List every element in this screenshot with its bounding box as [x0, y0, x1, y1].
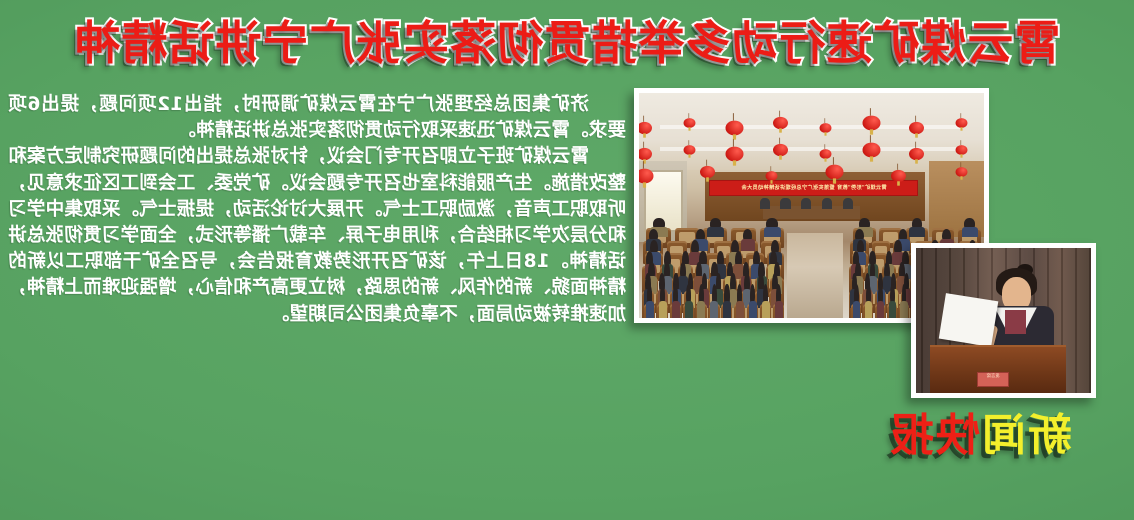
red-lantern	[891, 169, 906, 181]
audience-torso	[962, 227, 978, 237]
red-lantern	[639, 148, 652, 160]
speaker-document-paper	[939, 293, 998, 347]
red-lantern	[639, 122, 652, 134]
audience-torso	[853, 301, 860, 318]
audience-torso	[685, 301, 693, 318]
poster-title-bar: 霄云煤矿速行动多举措贯彻落实张广宁讲话精神	[0, 6, 1134, 74]
red-lantern	[909, 148, 924, 160]
red-lantern	[773, 116, 788, 128]
audience-torso	[775, 301, 783, 318]
audience-torso	[909, 227, 925, 237]
head-table-person	[843, 198, 853, 209]
article-body: 济矿集团总经理张广宁在霄云煤矿调研时，指出12项问题，提出6项要求。霄云煤矿迅速…	[8, 92, 626, 328]
audience-torso	[659, 301, 667, 318]
hall-red-banner: 霄云煤矿"形势"教育 暨落实张广宁总经理讲话精神动员大会	[709, 180, 918, 197]
audience-torso	[723, 301, 731, 318]
audience-torso	[741, 239, 756, 251]
podium-nameplate: 发言席	[977, 372, 1009, 386]
audience-torso	[749, 301, 757, 318]
speaker-podium-photo: 发言席	[911, 243, 1096, 398]
speaker-photo-frame: 发言席	[916, 248, 1091, 393]
audience-torso	[698, 301, 706, 318]
red-lantern	[773, 143, 788, 155]
hall-center-aisle	[787, 233, 842, 319]
hall-ceiling	[639, 93, 984, 170]
article-paragraph: 济矿集团总经理张广宁在霄云煤矿调研时，指出12项问题，提出6项要求。霄云煤矿迅速…	[8, 92, 626, 144]
red-lantern	[862, 115, 880, 130]
red-lantern	[639, 168, 653, 183]
red-lantern	[765, 171, 777, 181]
audience-torso	[672, 301, 680, 318]
head-table-person	[780, 198, 790, 209]
news-flash-badge-red-text: 快报	[888, 410, 980, 461]
speaker-scarf	[1005, 310, 1026, 333]
audience-torso	[900, 301, 907, 318]
audience-torso	[736, 301, 744, 318]
news-flash-badge-yellow-text: 新闻	[980, 410, 1072, 461]
red-lantern	[909, 122, 924, 134]
red-lantern	[956, 118, 968, 128]
audience-torso	[762, 301, 770, 318]
speaker-scene: 发言席	[916, 248, 1091, 393]
speaker-podium: 发言席	[930, 345, 1067, 393]
podium-nameplate-text: 发言席	[978, 373, 1008, 380]
red-lantern	[684, 145, 696, 155]
audience-torso	[707, 227, 725, 237]
article-paragraph: 霄云煤矿班子立即召开专门会议，针对张总提出的问题研究制定方案和整改措施。生产服能…	[8, 144, 626, 327]
head-table-person	[822, 198, 832, 209]
red-lantern	[956, 145, 968, 155]
red-lantern	[820, 123, 832, 133]
red-lantern	[684, 118, 696, 128]
page-title: 霄云煤矿速行动多举措贯彻落实张广宁讲话精神	[74, 7, 1061, 73]
red-lantern	[862, 142, 880, 157]
audience-torso	[877, 301, 884, 318]
head-table-person	[760, 198, 770, 209]
audience-torso	[710, 301, 718, 318]
audience-torso	[646, 301, 654, 318]
audience-torso	[764, 227, 782, 237]
poster-page: 霄云煤矿速行动多举措贯彻落实张广宁讲话精神 霄云煤矿"形势"教育 暨落实张广宁总…	[0, 0, 1134, 520]
news-flash-badge: 新闻快报	[888, 414, 1072, 458]
audience-torso	[889, 301, 896, 318]
head-table-person	[801, 198, 811, 209]
hall-banner-text: 霄云煤矿"形势"教育 暨落实张广宁总经理讲话精神动员大会	[710, 181, 917, 196]
mirrored-content-layer: 霄云煤矿速行动多举措贯彻落实张广宁讲话精神 霄云煤矿"形势"教育 暨落实张广宁总…	[0, 0, 1134, 520]
audience-torso	[865, 301, 872, 318]
